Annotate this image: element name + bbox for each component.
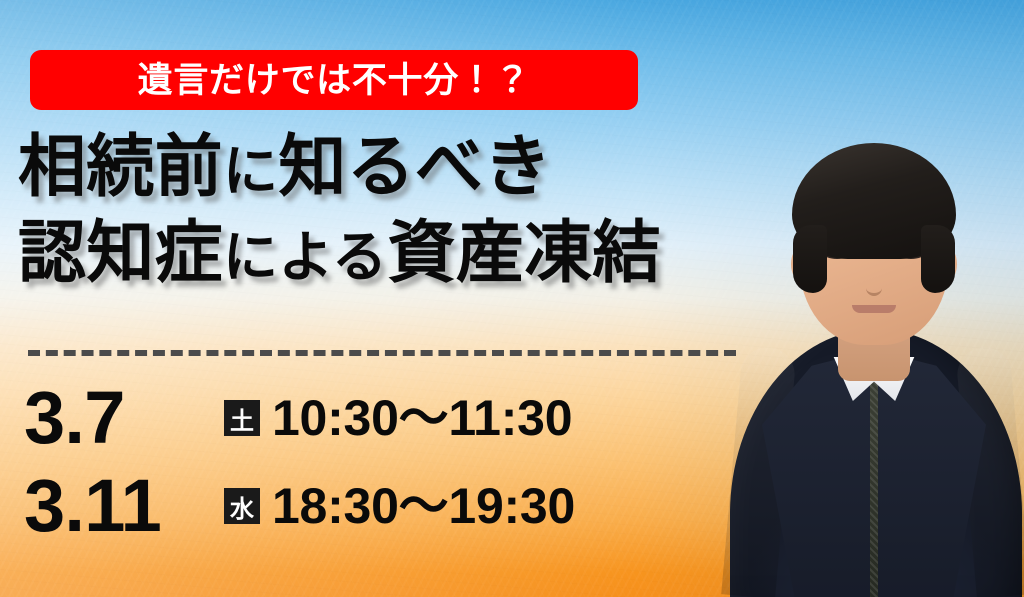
headline-line-2: 認知症による資産凍結 [18,219,661,287]
schedule-list: 3.7 土 10:30〜11:30 3.11 水 18:30〜19:30 [24,374,575,550]
schedule-row: 3.11 水 18:30〜19:30 [24,462,575,550]
dashed-divider [28,350,736,356]
eyebrow-text: 遺言だけでは不十分！？ [138,63,531,98]
schedule-time: 10:30〜11:30 [272,393,572,443]
schedule-date: 3.11 [24,469,224,543]
headline-line-1-part-2: に [223,140,278,202]
day-of-week-badge: 水 [224,488,260,524]
headline-line-2-part-1: 認知症 [18,215,223,291]
day-of-week-badge: 土 [224,400,260,436]
headline-line-1-part-3: 知るべき [278,129,551,205]
schedule-time: 18:30〜19:30 [272,481,575,531]
eyebrow-banner: 遺言だけでは不十分！？ [30,50,638,110]
schedule-row: 3.7 土 10:30〜11:30 [24,374,575,462]
headline-line-2-part-2: による [223,226,387,288]
headline-line-1: 相続前に知るべき [18,133,661,201]
seminar-banner: 遺言だけでは不十分！？ 相続前に知るべき 認知症による資産凍結 3.7 土 10… [0,0,1024,597]
headline-line-1-part-1: 相続前 [18,129,223,205]
schedule-date: 3.7 [24,381,224,455]
headline: 相続前に知るべき 認知症による資産凍結 [18,133,661,305]
headline-line-2-part-3: 資産凍結 [387,215,660,291]
banner-content: 遺言だけでは不十分！？ 相続前に知るべき 認知症による資産凍結 3.7 土 10… [0,0,1024,597]
